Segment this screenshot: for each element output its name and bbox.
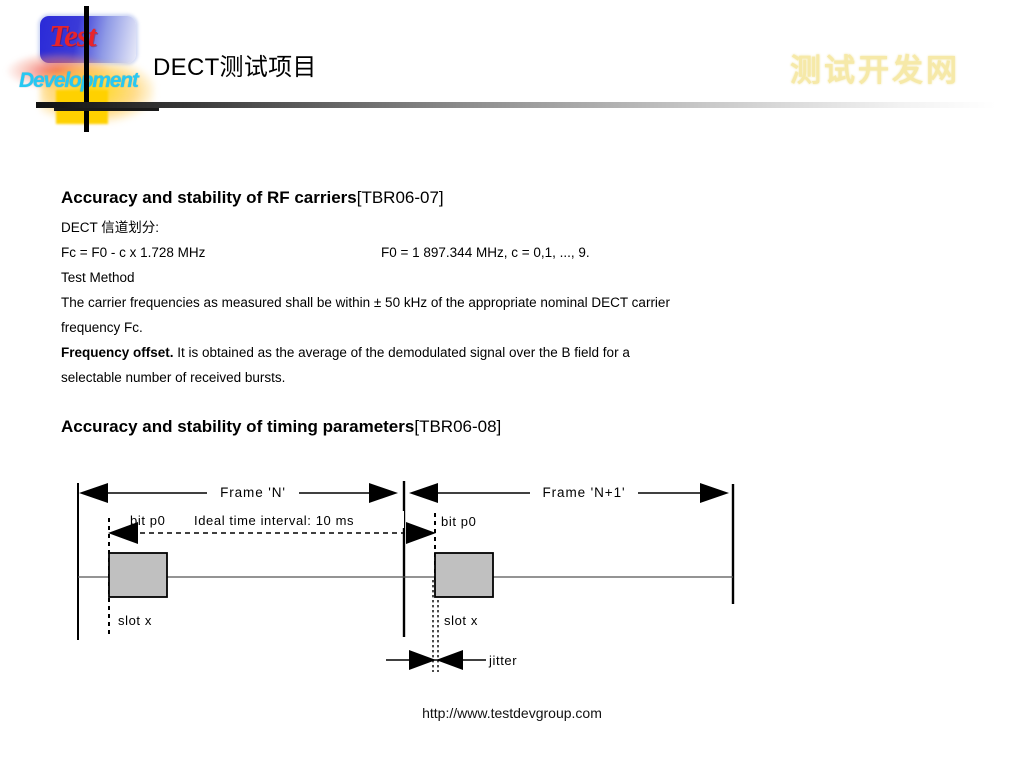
- bit-p0-right-label: bit p0: [441, 514, 476, 529]
- frame-n-arrowhead-left: [79, 483, 108, 503]
- frequency-offset-lead: Frequency offset.: [61, 345, 174, 360]
- ideal-interval-arrowhead-right: [406, 522, 436, 544]
- line-selectable-bursts: selectable number of received bursts.: [61, 365, 941, 390]
- jitter-arrowhead-left: [409, 650, 436, 670]
- logo: Test Development: [18, 6, 148, 126]
- section-heading-timing-parameters: Accuracy and stability of timing paramet…: [61, 415, 941, 439]
- page-title: DECT测试项目: [153, 47, 317, 82]
- section-rf-carriers: Accuracy and stability of RF carriers[TB…: [61, 186, 941, 390]
- footer-url[interactable]: http://www.testdevgroup.com: [0, 705, 1024, 721]
- frame-n-label-bg: [207, 483, 299, 501]
- frame-n1-label-bg: [530, 483, 638, 501]
- frame-n1-arrowhead-right: [700, 483, 729, 503]
- line-carrier-tolerance-2: frequency Fc.: [61, 315, 941, 340]
- line-frequency-offset: Frequency offset. It is obtained as the …: [61, 340, 941, 365]
- line-channel-division: DECT 信道划分:: [61, 215, 941, 240]
- ideal-interval-label: Ideal time interval: 10 ms: [194, 513, 354, 528]
- frequency-offset-body: It is obtained as the average of the dem…: [174, 345, 630, 360]
- frame-n-label: Frame 'N': [220, 485, 286, 500]
- slot-x-right-label: slot x: [444, 613, 478, 628]
- frame-n-arrowhead-right: [369, 483, 398, 503]
- logo-cross-vertical: [84, 6, 89, 132]
- line-formula: Fc = F0 - c x 1.728 MHzF0 = 1 897.344 MH…: [61, 240, 941, 265]
- header-divider: [36, 102, 996, 108]
- heading-bold-text: Accuracy and stability of RF carriers: [61, 188, 357, 207]
- site-watermark: 测试开发网: [790, 45, 960, 90]
- jitter-label: jitter: [488, 653, 517, 668]
- slot-burst-box-left: [109, 553, 167, 597]
- formula-f0: F0 = 1 897.344 MHz, c = 0,1, ..., 9.: [381, 245, 590, 260]
- heading-ref-text-2: [TBR06-08]: [414, 417, 501, 436]
- jitter-arrowhead-right: [436, 650, 463, 670]
- slot-burst-box-right: [435, 553, 493, 597]
- heading-ref-text: [TBR06-07]: [357, 188, 444, 207]
- heading-bold-text-2: Accuracy and stability of timing paramet…: [61, 417, 414, 436]
- bit-p0-left-label: bit p0: [130, 513, 165, 528]
- frame-n1-arrowhead-left: [409, 483, 438, 503]
- line-test-method: Test Method: [61, 265, 941, 290]
- page-header: Test Development DECT测试项目 测试开发网: [0, 0, 1024, 135]
- formula-fc: Fc = F0 - c x 1.728 MHz: [61, 240, 381, 265]
- ideal-interval-arrowhead-left: [108, 522, 138, 544]
- slot-x-left-label: slot x: [118, 613, 152, 628]
- logo-text-development: Development: [19, 68, 164, 94]
- logo-text-test: Test: [49, 14, 139, 58]
- section-timing-parameters: Accuracy and stability of timing paramet…: [61, 415, 941, 444]
- line-carrier-tolerance-1: The carrier frequencies as measured shal…: [61, 290, 941, 315]
- ideal-interval-label-bg: [190, 511, 404, 528]
- frame-n1-label: Frame 'N+1': [543, 485, 626, 500]
- section-heading-rf-carriers: Accuracy and stability of RF carriers[TB…: [61, 186, 941, 210]
